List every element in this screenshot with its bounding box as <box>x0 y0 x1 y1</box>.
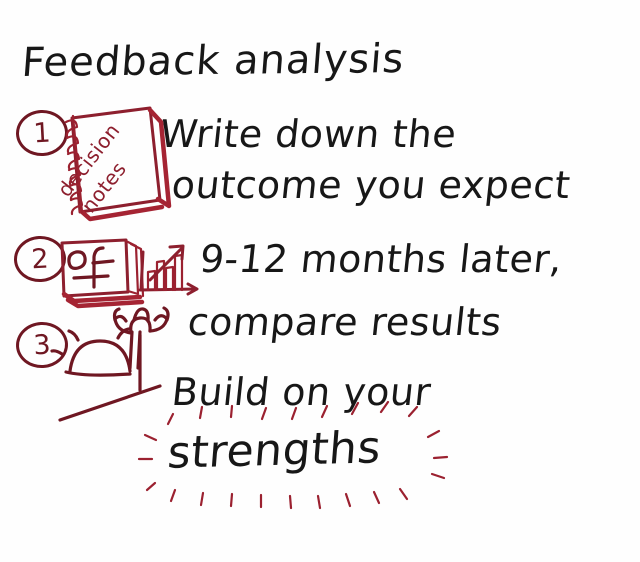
step-3-number-badge: 3 <box>15 321 69 370</box>
document-stack-icon <box>62 240 143 306</box>
step-2-line-1: 9-12 months later, <box>198 237 565 281</box>
step-1-number-badge: 1 <box>15 109 69 158</box>
person-on-hill-icon <box>52 308 168 420</box>
page-title: Feedback analysis <box>20 36 406 86</box>
step-1-line-1: Write down the <box>158 112 459 156</box>
whiteboard-canvas: Feedback analysis 1 Write down the outco… <box>0 0 640 562</box>
step-1-line-2: outcome you expect <box>170 163 573 207</box>
step-3-line-2: strengths <box>166 422 383 479</box>
step-2-number-badge: 2 <box>13 235 67 284</box>
step-2-line-2: compare results <box>186 300 504 344</box>
step-3-line-1: Build on your <box>170 370 433 414</box>
bar-chart-growth-icon <box>140 246 197 294</box>
